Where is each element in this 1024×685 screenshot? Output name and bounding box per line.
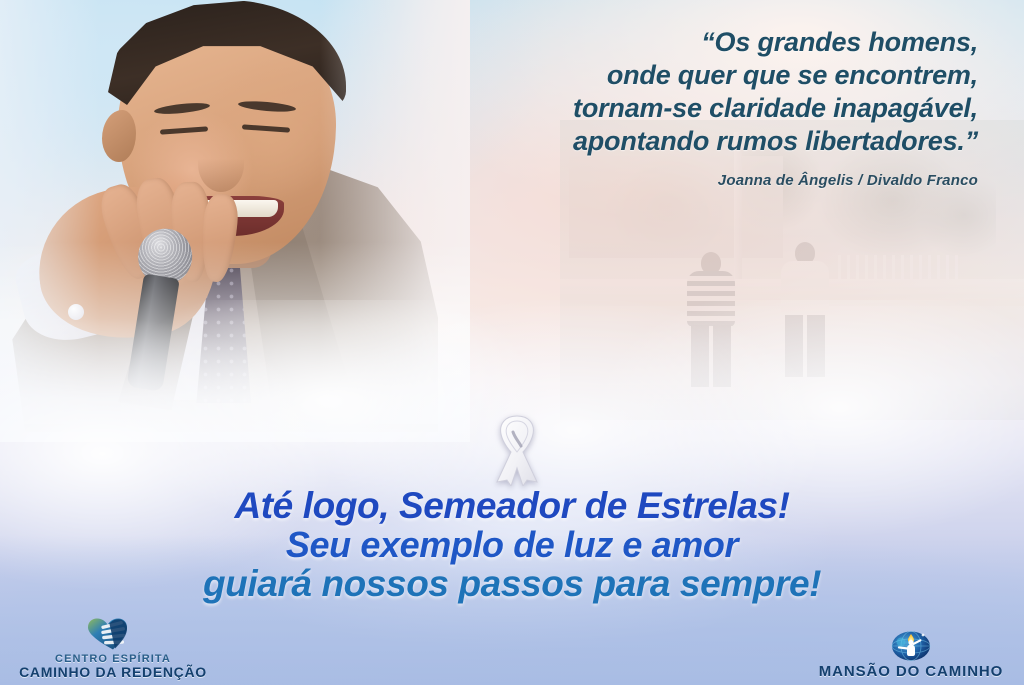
- figure-torso: [781, 261, 829, 317]
- figure-legs: [785, 315, 825, 377]
- headline-line-1: Até logo, Semeador de Estrelas!: [0, 486, 1024, 526]
- microphone-body: [126, 274, 179, 392]
- logo-mansao-do-caminho[interactable]: MANSÃO DO CAMINHO: [806, 628, 1016, 681]
- headline-block: Até logo, Semeador de Estrelas! Seu exem…: [0, 486, 1024, 604]
- portrait-nose: [198, 136, 244, 192]
- logo-right-text: MANSÃO DO CAMINHO: [819, 664, 1003, 681]
- globe-torch-figure-icon: [887, 628, 935, 662]
- portrait-cuff-button: [68, 304, 84, 320]
- mourning-ribbon-icon: [487, 412, 547, 486]
- scene-figure-white-shirt: [773, 242, 837, 402]
- heart-hands-icon: [85, 617, 141, 651]
- quote-line-1: “Os grandes homens,: [358, 26, 978, 59]
- memorial-poster: “Os grandes homens, onde quer que se enc…: [0, 0, 1024, 685]
- scene-figure-striped-shirt: [681, 252, 741, 402]
- logo-centro-espirita[interactable]: CENTRO ESPÍRITA CAMINHO DA REDENÇÃO: [8, 617, 218, 681]
- logo-right-line-1: MANSÃO DO CAMINHO: [819, 664, 1003, 681]
- quote-block: “Os grandes homens, onde quer que se enc…: [358, 26, 978, 189]
- figure-legs: [691, 325, 731, 387]
- figure-torso: [687, 271, 735, 327]
- quote-line-3: tornam-se claridade inapagável,: [358, 92, 978, 125]
- quote-line-2: onde quer que se encontrem,: [358, 59, 978, 92]
- headline-line-2: Seu exemplo de luz e amor: [0, 526, 1024, 565]
- logo-left-text: CENTRO ESPÍRITA CAMINHO DA REDENÇÃO: [19, 653, 207, 681]
- quote-line-4: apontando rumos libertadores.”: [358, 125, 978, 158]
- headline-line-3: guiará nossos passos para sempre!: [0, 564, 1024, 604]
- quote-author: Joanna de Ângelis / Divaldo Franco: [358, 172, 978, 189]
- logo-left-line-2: CAMINHO DA REDENÇÃO: [19, 665, 207, 681]
